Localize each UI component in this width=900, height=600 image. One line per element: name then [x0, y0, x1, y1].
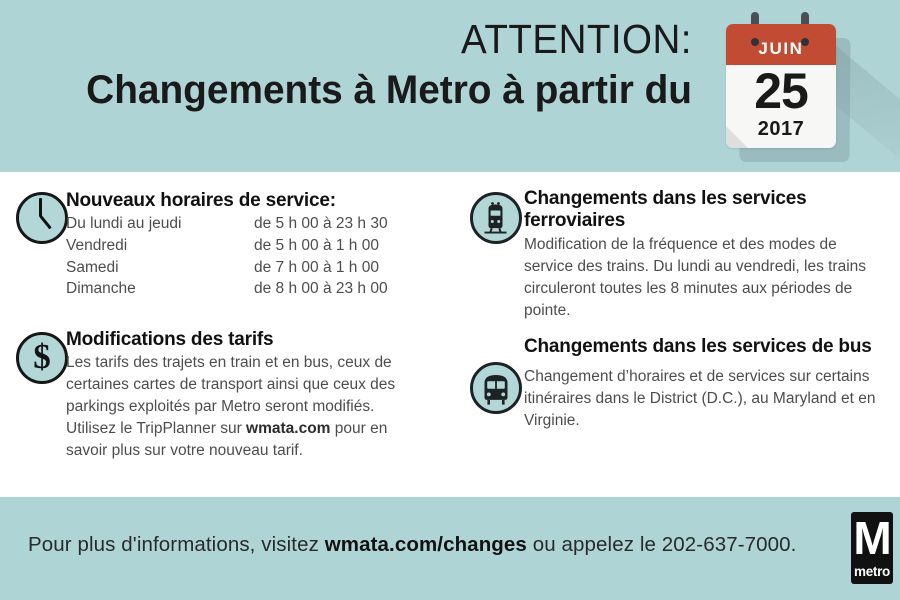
bus-service-text: Changement d’horaires et de services sur… — [524, 366, 894, 432]
table-row: Dimanche de 8 h 00 à 23 h 00 — [66, 278, 388, 300]
calendar-day-label: 25 — [726, 66, 836, 116]
schedule-hours: de 8 h 00 à 23 h 00 — [254, 278, 388, 300]
page-title: Changements à Metro à partir du — [40, 67, 692, 113]
schedule-day: Vendredi — [66, 235, 254, 257]
clock-icon-circle — [16, 192, 68, 244]
service-hours-table: Du lundi au jeudi de 5 h 00 à 23 h 30 Ve… — [66, 213, 388, 300]
bus-icon — [468, 362, 524, 418]
infographic-poster: ATTENTION: Changements à Metro à partir … — [0, 0, 900, 600]
left-column: Nouveaux horaires de service: Du lundi a… — [0, 172, 450, 497]
schedule-day: Dimanche — [66, 278, 254, 300]
dollar-glyph: $ — [14, 332, 70, 384]
footer-text-part2: ou appelez le 202-637-7000. — [527, 533, 797, 556]
table-row: Vendredi de 5 h 00 à 1 h 00 — [66, 235, 388, 257]
wmata-link-inline[interactable]: wmata.com — [246, 420, 330, 437]
header-text-group: ATTENTION: Changements à Metro à partir … — [20, 18, 692, 113]
train-glyph — [468, 192, 524, 244]
metro-logo-wordmark: metro — [851, 565, 893, 579]
footer-message: Pour plus d'informations, visitez wmata.… — [28, 533, 796, 557]
fare-changes-text: Les tarifs des trajets en train et en bu… — [66, 352, 411, 462]
fare-changes-title: Modifications des tarifs — [66, 329, 411, 351]
footer-text-part1: Pour plus d'informations, visitez — [28, 533, 325, 556]
train-icon — [468, 192, 524, 248]
footer-link[interactable]: wmata.com/changes — [325, 533, 527, 556]
service-hours-title: Nouveaux horaires de service: — [66, 190, 444, 212]
attention-kicker: ATTENTION: — [60, 18, 692, 61]
rail-service-text: Modification de la fréquence et des mode… — [524, 234, 884, 322]
calendar-ring-hole-right — [801, 38, 809, 46]
clock-hour-hand — [39, 215, 51, 229]
calendar-icon: JUIN 25 2017 — [726, 24, 836, 148]
metro-logo-mark: M — [851, 511, 893, 565]
fare-changes-content: Modifications des tarifs Les tarifs des … — [66, 329, 411, 462]
schedule-hours: de 7 h 00 à 1 h 00 — [254, 257, 388, 279]
schedule-hours: de 5 h 00 à 23 h 30 — [254, 213, 388, 235]
schedule-day: Du lundi au jeudi — [66, 213, 254, 235]
table-row: Du lundi au jeudi de 5 h 00 à 23 h 30 — [66, 213, 388, 235]
bus-service-content: Changements dans les services de bus Cha… — [524, 336, 894, 432]
clock-icon — [14, 192, 70, 248]
metro-logo: M metro — [851, 512, 893, 584]
right-column: Changements dans les services ferroviair… — [450, 172, 900, 497]
schedule-day: Samedi — [66, 257, 254, 279]
dollar-icon: $ — [14, 332, 70, 388]
calendar-ring-hole-left — [751, 38, 759, 46]
calendar-month-label: JUIN — [726, 39, 836, 59]
service-hours-content: Nouveaux horaires de service: Du lundi a… — [66, 190, 444, 300]
bus-service-title: Changements dans les services de bus — [524, 336, 894, 358]
schedule-hours: de 5 h 00 à 1 h 00 — [254, 235, 388, 257]
calendar-body: JUIN 25 2017 — [726, 24, 836, 148]
content-area: Nouveaux horaires de service: Du lundi a… — [0, 172, 900, 497]
rail-service-content: Changements dans les services ferroviair… — [524, 188, 884, 322]
bus-glyph — [468, 362, 524, 414]
calendar-year-label: 2017 — [726, 118, 836, 141]
header-band: ATTENTION: Changements à Metro à partir … — [0, 0, 900, 172]
table-row: Samedi de 7 h 00 à 1 h 00 — [66, 257, 388, 279]
rail-service-title: Changements dans les services ferroviair… — [524, 188, 884, 233]
